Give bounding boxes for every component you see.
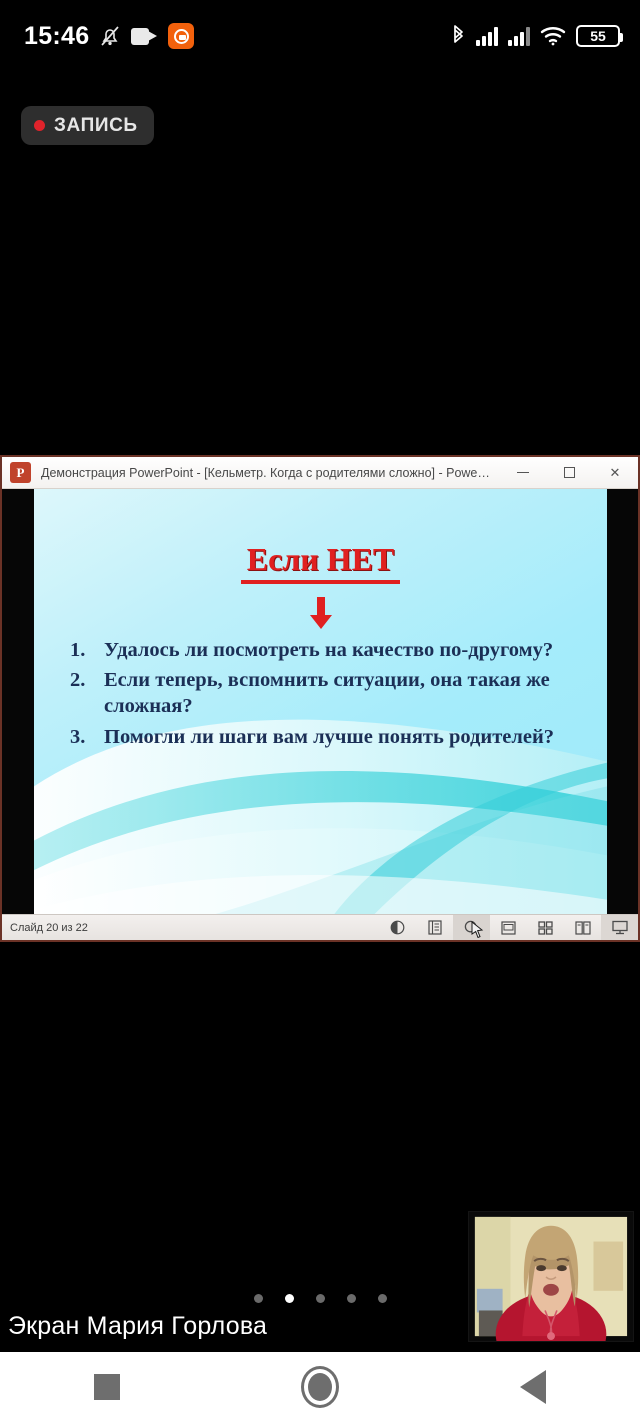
signal-bars-icon [476,26,498,46]
square-icon [94,1374,120,1400]
recents-button[interactable] [0,1374,213,1400]
normal-view-icon[interactable] [490,915,527,940]
status-bar-left-group: 15:46 [24,22,194,51]
circle-icon [301,1366,339,1408]
page-dot[interactable] [378,1294,387,1303]
reading-view-icon[interactable] [564,915,601,940]
powerpoint-title-bar[interactable]: P Демонстрация PowerPoint - [Кельметр. К… [2,457,638,489]
slide-counter: Слайд 20 из 22 [10,922,88,934]
maximize-button[interactable] [546,457,592,488]
signal-bars-icon [508,26,530,46]
close-button[interactable]: ✕ [592,457,638,488]
window-title: Демонстрация PowerPoint - [Кельметр. Ког… [31,466,500,480]
slide-title: Если НЕТ [34,541,607,578]
android-nav-bar [0,1352,640,1422]
down-arrow-icon [34,597,607,631]
list-item: 3. Помогли ли шаги вам лучше понять роди… [70,724,583,750]
triangle-left-icon [520,1370,546,1404]
mouse-cursor-icon [471,921,484,938]
camcorder-icon [131,28,157,45]
battery-icon: 55 [576,25,620,47]
zoom-icon[interactable] [453,915,490,940]
slideshow-icon[interactable] [601,915,638,940]
recording-dot-icon [34,120,45,131]
page-indicator-dots[interactable] [0,1294,640,1303]
slide-question-list: 1. Удалось ли посмотреть на качество по-… [70,637,583,754]
recording-label: ЗАПИСЬ [54,115,138,137]
page-dot[interactable] [254,1294,263,1303]
participant-video-thumbnail[interactable] [468,1211,634,1342]
recording-badge[interactable]: ЗАПИСЬ [21,106,154,145]
battery-level: 55 [590,29,606,43]
accessibility-icon[interactable] [379,915,416,940]
back-button[interactable] [427,1370,640,1404]
minimize-button[interactable] [500,457,546,488]
bluetooth-icon [451,24,466,48]
page-dot-active[interactable] [285,1294,294,1303]
list-item: 1. Удалось ли посмотреть на качество по-… [70,637,583,663]
app-orange-icon [168,23,194,49]
screen-share-label: Экран Мария Горлова [8,1312,267,1341]
view-tools-group [379,915,638,940]
page-dot[interactable] [316,1294,325,1303]
powerpoint-status-bar: Слайд 20 из 22 [2,914,638,940]
notes-icon[interactable] [416,915,453,940]
status-clock: 15:46 [24,22,89,51]
slide-canvas[interactable]: Если НЕТ 1. Удалось ли посмотреть на кач… [34,489,607,914]
participant-video-frame [469,1212,633,1341]
powerpoint-window: P Демонстрация PowerPoint - [Кельметр. К… [0,455,640,942]
wifi-icon [540,26,566,46]
window-controls: ✕ [500,457,638,488]
bell-muted-icon [100,25,120,47]
status-bar-right-group: 55 [451,24,620,48]
powerpoint-logo-icon: P [10,462,31,483]
android-status-bar: 15:46 [0,0,640,72]
home-button[interactable] [213,1366,426,1408]
list-item: 2. Если теперь, вспомнить ситуации, она … [70,667,583,719]
slide-sorter-icon[interactable] [527,915,564,940]
page-dot[interactable] [347,1294,356,1303]
slide-stage: Если НЕТ 1. Удалось ли посмотреть на кач… [2,489,638,914]
